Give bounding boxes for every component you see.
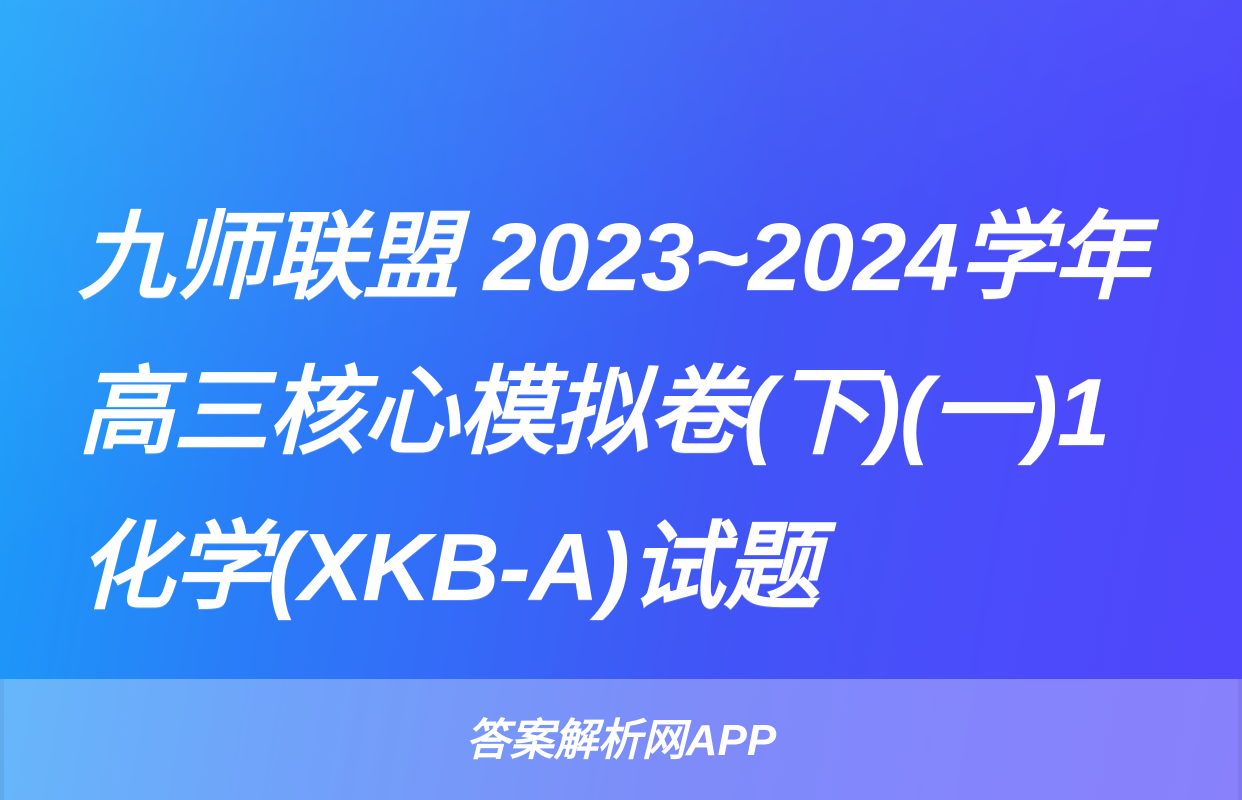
page-title: 九师联盟 2023~2024学年高三核心模拟卷(下)(一)1化学(XKB-A)试… (0, 180, 1242, 645)
footer-band-left-edge (0, 679, 4, 800)
exam-paper-cover-poster: 九师联盟 2023~2024学年高三核心模拟卷(下)(一)1化学(XKB-A)试… (0, 0, 1242, 800)
watermark-app-label: 答案解析网APP (466, 719, 776, 763)
footer-band-right-edge (1238, 679, 1242, 800)
footer-watermark-band: 答案解析网APP (0, 679, 1242, 800)
